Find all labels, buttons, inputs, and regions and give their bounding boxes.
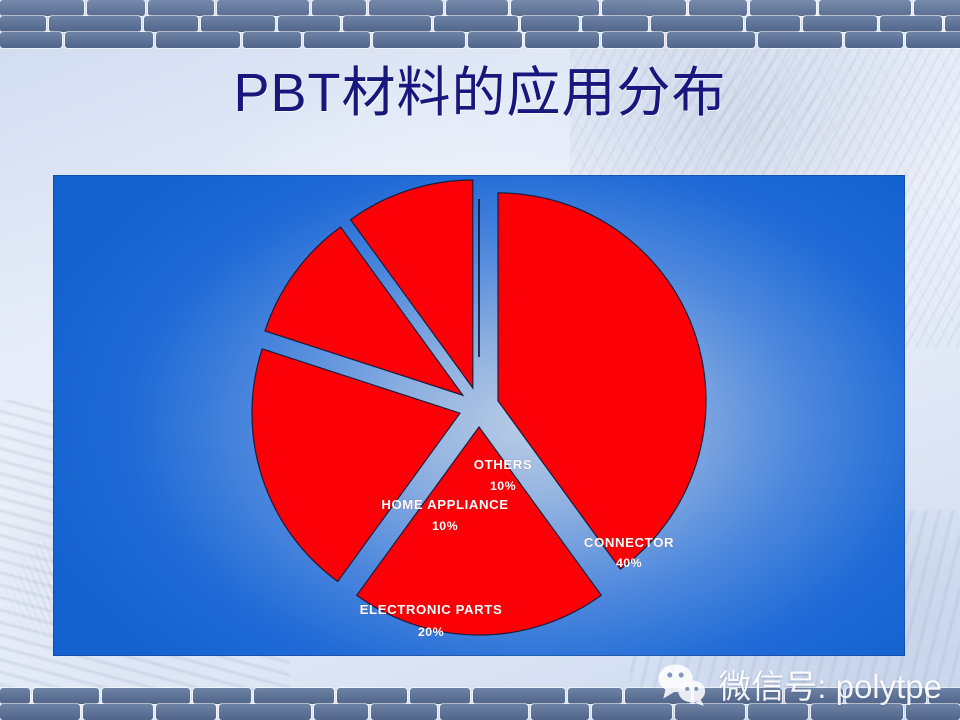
brick — [243, 32, 301, 48]
brick — [748, 704, 808, 720]
brick — [314, 704, 368, 720]
brick — [33, 688, 99, 704]
brick-row — [0, 32, 960, 48]
brick — [945, 16, 960, 32]
brick-band-bottom — [0, 688, 960, 720]
pie-chart-panel: CONNECTOR40%DC FAN20%ELECTRONIC PARTS20%… — [53, 175, 905, 656]
brick-row — [0, 704, 960, 720]
brick — [65, 32, 153, 48]
brick — [0, 704, 80, 720]
brick — [906, 32, 960, 48]
brick — [582, 16, 648, 32]
brick — [785, 688, 843, 704]
brick — [819, 0, 911, 16]
brick — [371, 704, 437, 720]
pie-chart-svg: CONNECTOR40%DC FAN20%ELECTRONIC PARTS20%… — [53, 175, 905, 656]
brick — [373, 32, 465, 48]
pie-slice-label: CONNECTOR — [584, 535, 674, 550]
brick — [254, 688, 334, 704]
brick — [410, 688, 470, 704]
brick — [337, 688, 407, 704]
brick — [473, 688, 565, 704]
watermark-text: 微信号: polytpe — [718, 660, 942, 708]
brick — [0, 16, 46, 32]
brick — [694, 688, 782, 704]
pie-slice-percent: 10% — [490, 479, 516, 493]
brick — [592, 704, 672, 720]
pie-slice-label: HOME APPLIANCE — [381, 497, 508, 512]
brick — [87, 0, 145, 16]
brick — [369, 0, 443, 16]
brick — [750, 0, 816, 16]
slide-canvas: PBT材料的应用分布 CONNECTOR40%DC FAN20%ELECTRON… — [0, 0, 960, 720]
brick — [144, 16, 198, 32]
brick — [156, 32, 240, 48]
brick — [193, 688, 251, 704]
brick — [689, 0, 747, 16]
page-title: PBT材料的应用分布 — [0, 64, 960, 122]
brick — [929, 688, 960, 704]
watermark: 微信号: polytpe — [656, 660, 942, 708]
brick — [343, 16, 431, 32]
brick — [525, 32, 599, 48]
brick — [434, 16, 518, 32]
brick — [446, 0, 508, 16]
brick — [880, 16, 942, 32]
brick — [811, 704, 903, 720]
pie-slice-percent: 10% — [432, 519, 458, 533]
brick — [148, 0, 214, 16]
brick — [746, 16, 800, 32]
brick — [845, 32, 903, 48]
brick-band-top — [0, 0, 960, 48]
brick — [201, 16, 275, 32]
brick — [0, 0, 84, 16]
pie-slice-percent: 40% — [616, 556, 642, 570]
brick — [602, 0, 686, 16]
brick — [49, 16, 141, 32]
brick — [156, 704, 216, 720]
brick-row — [0, 16, 960, 32]
brick — [625, 688, 691, 704]
pie-slice-label: ELECTRONIC PARTS — [360, 602, 503, 617]
brick — [602, 32, 664, 48]
brick — [278, 16, 340, 32]
brick — [521, 16, 579, 32]
brick — [0, 688, 30, 704]
brick — [102, 688, 190, 704]
brick — [914, 0, 960, 16]
brick — [468, 32, 522, 48]
brick — [906, 704, 960, 720]
brick — [758, 32, 842, 48]
brick — [440, 704, 528, 720]
brick — [568, 688, 622, 704]
brick-row — [0, 688, 960, 704]
brick-row — [0, 0, 960, 16]
pie-slice-label: OTHERS — [474, 457, 533, 472]
brick — [531, 704, 589, 720]
brick — [219, 704, 311, 720]
brick — [0, 32, 62, 48]
wechat-icon — [656, 662, 708, 706]
brick — [675, 704, 745, 720]
brick — [304, 32, 370, 48]
brick — [667, 32, 755, 48]
brick — [511, 0, 599, 16]
brick — [651, 16, 743, 32]
brick — [803, 16, 877, 32]
brick — [846, 688, 926, 704]
brick — [312, 0, 366, 16]
pie-slice-percent: 20% — [418, 625, 444, 639]
brick — [217, 0, 309, 16]
brick — [83, 704, 153, 720]
